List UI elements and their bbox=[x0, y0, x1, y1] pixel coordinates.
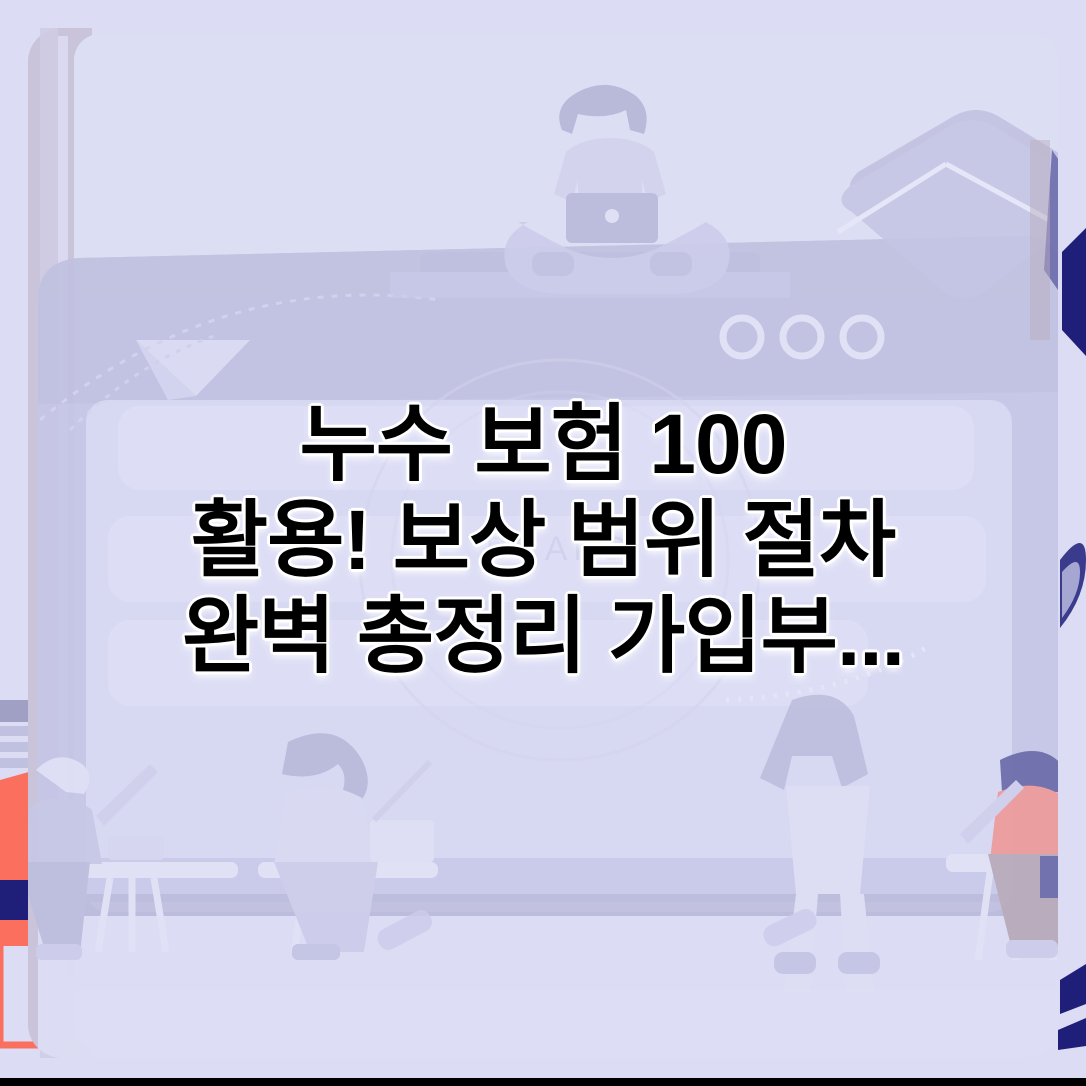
bottom-bar bbox=[0, 1078, 1086, 1086]
headline-line-2: 활용! 보상 범위 절차 bbox=[18, 492, 1068, 588]
thumbnail-card: BRAND bbox=[0, 0, 1086, 1086]
headline-line-1: 누수 보험 100 bbox=[18, 396, 1068, 492]
headline: 누수 보험 100 활용! 보상 범위 절차 완벽 총정리 가입부... bbox=[0, 396, 1086, 684]
headline-line-3: 완벽 총정리 가입부... bbox=[18, 588, 1068, 684]
